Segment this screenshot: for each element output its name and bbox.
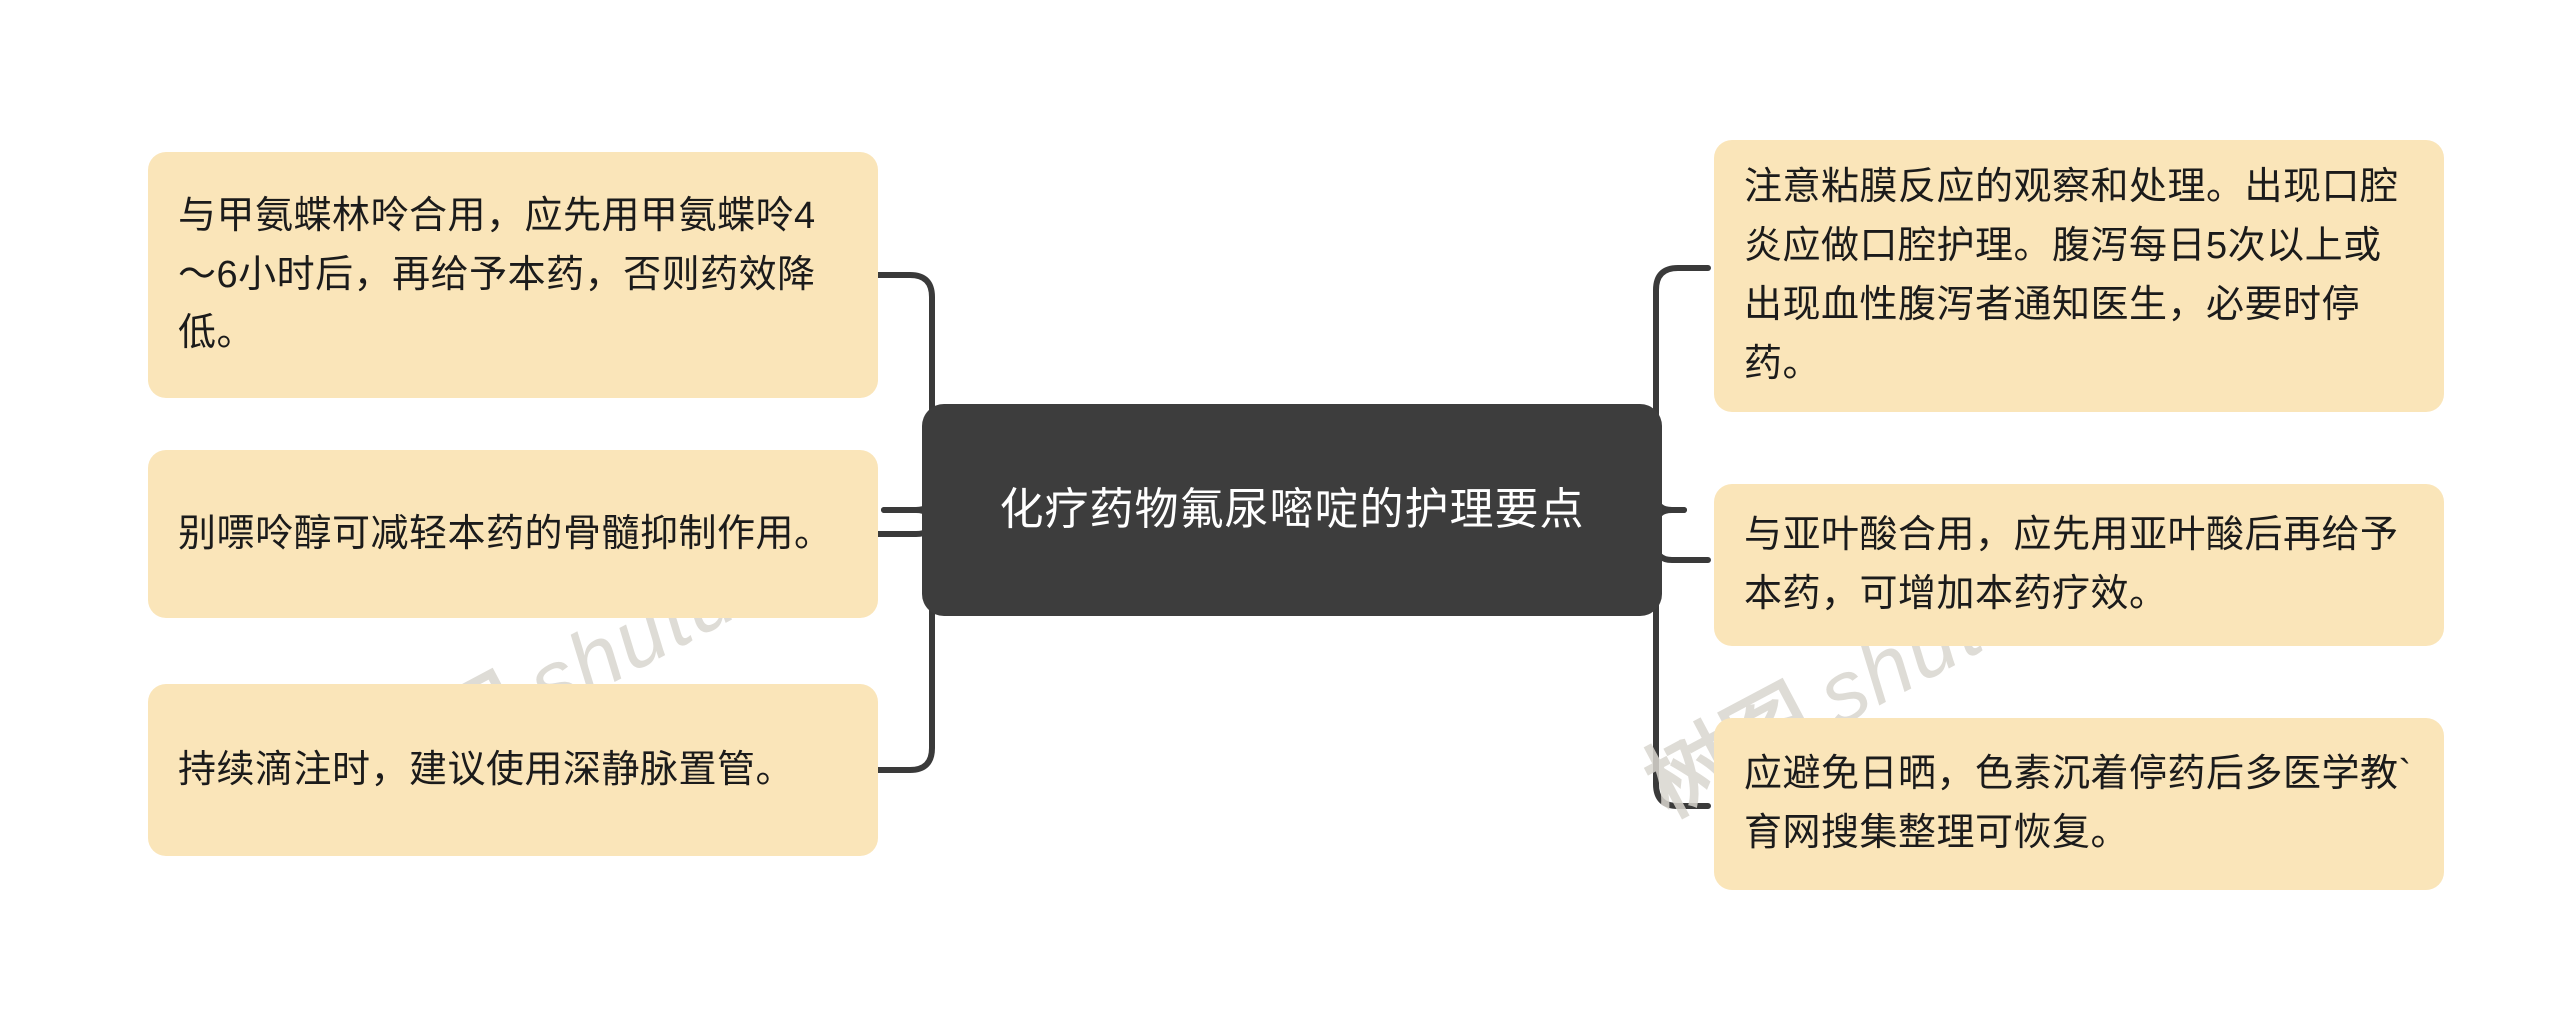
mindmap-canvas: 树图shutu.cn 树图shutu.cn 与甲氨蝶林呤合用，应先用甲氨蝶呤4～… — [0, 0, 2560, 1017]
central-topic-label: 化疗药物氟尿嘧啶的护理要点 — [1000, 478, 1585, 542]
right-branch-label-2: 与亚叶酸合用，应先用亚叶酸后再给予本药，可增加本药疗效。 — [1744, 506, 2414, 624]
right-branch-node-2[interactable]: 与亚叶酸合用，应先用亚叶酸后再给予本药，可增加本药疗效。 — [1714, 484, 2444, 646]
left-branch-label-1: 与甲氨蝶林呤合用，应先用甲氨蝶呤4～6小时后，再给予本药，否则药效降低。 — [178, 187, 848, 364]
left-branch-node-2[interactable]: 别嘌呤醇可减轻本药的骨髓抑制作用。 — [148, 450, 878, 618]
connector-right-branch-2 — [1656, 510, 1708, 560]
right-branch-node-3[interactable]: 应避免日晒，色素沉着停药后多医学教`育网搜集整理可恢复。 — [1714, 718, 2444, 890]
right-branch-label-3: 应避免日晒，色素沉着停药后多医学教`育网搜集整理可恢复。 — [1744, 745, 2414, 863]
left-branch-label-2: 别嘌呤醇可减轻本药的骨髓抑制作用。 — [178, 505, 848, 564]
left-branch-node-1[interactable]: 与甲氨蝶林呤合用，应先用甲氨蝶呤4～6小时后，再给予本药，否则药效降低。 — [148, 152, 878, 398]
connector-right-branch-1 — [1656, 268, 1708, 510]
right-branch-label-1: 注意粘膜反应的观察和处理。出现口腔炎应做口腔护理。腹泻每日5次以上或出现血性腹泻… — [1744, 158, 2414, 394]
left-branch-node-3[interactable]: 持续滴注时，建议使用深静脉置管。 — [148, 684, 878, 856]
central-topic-node[interactable]: 化疗药物氟尿嘧啶的护理要点 — [922, 404, 1662, 616]
right-branch-node-1[interactable]: 注意粘膜反应的观察和处理。出现口腔炎应做口腔护理。腹泻每日5次以上或出现血性腹泻… — [1714, 140, 2444, 412]
connector-right-branch-3 — [1656, 510, 1708, 806]
left-branch-label-3: 持续滴注时，建议使用深静脉置管。 — [178, 741, 848, 800]
